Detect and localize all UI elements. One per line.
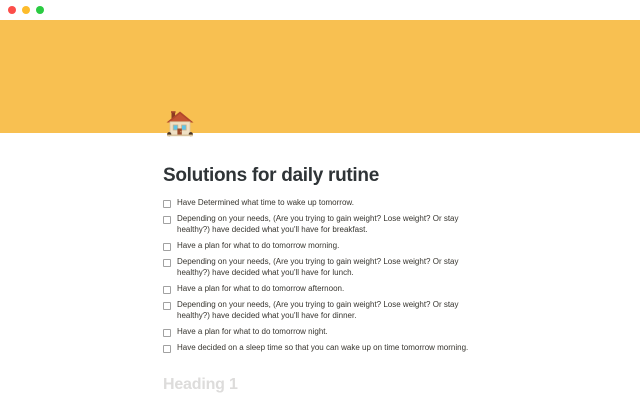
todo-item-label: Have a plan for what to do tomorrow afte… [177,283,473,294]
checkbox-unchecked-icon[interactable] [163,216,171,224]
app-window: Solutions for daily rutine Have Determin… [0,0,640,400]
page-title[interactable]: Solutions for daily rutine [163,133,473,188]
todo-checklist: Have Determined what time to wake up tom… [163,197,473,353]
todo-item[interactable]: Have a plan for what to do tomorrow afte… [163,283,473,294]
checkbox-unchecked-icon[interactable] [163,243,171,251]
minimize-button-icon[interactable] [22,6,30,14]
checkbox-unchecked-icon[interactable] [163,345,171,353]
page-body: Solutions for daily rutine Have Determin… [0,133,640,400]
todo-item-label: Have decided on a sleep time so that you… [177,342,473,353]
todo-item-label: Depending on your needs, (Are you trying… [177,213,473,235]
todo-item[interactable]: Have decided on a sleep time so that you… [163,342,473,353]
checkbox-unchecked-icon[interactable] [163,200,171,208]
todo-item[interactable]: Have a plan for what to do tomorrow nigh… [163,326,473,337]
todo-item[interactable]: Have Determined what time to wake up tom… [163,197,473,208]
page-cover-image[interactable] [0,20,640,133]
todo-item-label: Depending on your needs, (Are you trying… [177,299,473,321]
todo-item-label: Have a plan for what to do tomorrow morn… [177,240,473,251]
todo-item[interactable]: Have a plan for what to do tomorrow morn… [163,240,473,251]
maximize-button-icon[interactable] [36,6,44,14]
close-button-icon[interactable] [8,6,16,14]
page-content: Solutions for daily rutine Have Determin… [163,133,473,395]
todo-item-label: Have a plan for what to do tomorrow nigh… [177,326,473,337]
heading-1-placeholder[interactable]: Heading 1 [163,375,473,395]
todo-item-label: Depending on your needs, (Are you trying… [177,256,473,278]
todo-item[interactable]: Depending on your needs, (Are you trying… [163,213,473,235]
window-controls [8,6,44,14]
checkbox-unchecked-icon[interactable] [163,286,171,294]
checkbox-unchecked-icon[interactable] [163,302,171,310]
checkbox-unchecked-icon[interactable] [163,329,171,337]
todo-item-label: Have Determined what time to wake up tom… [177,197,473,208]
todo-item[interactable]: Depending on your needs, (Are you trying… [163,299,473,321]
todo-item[interactable]: Depending on your needs, (Are you trying… [163,256,473,278]
window-titlebar [0,0,640,20]
checkbox-unchecked-icon[interactable] [163,259,171,267]
